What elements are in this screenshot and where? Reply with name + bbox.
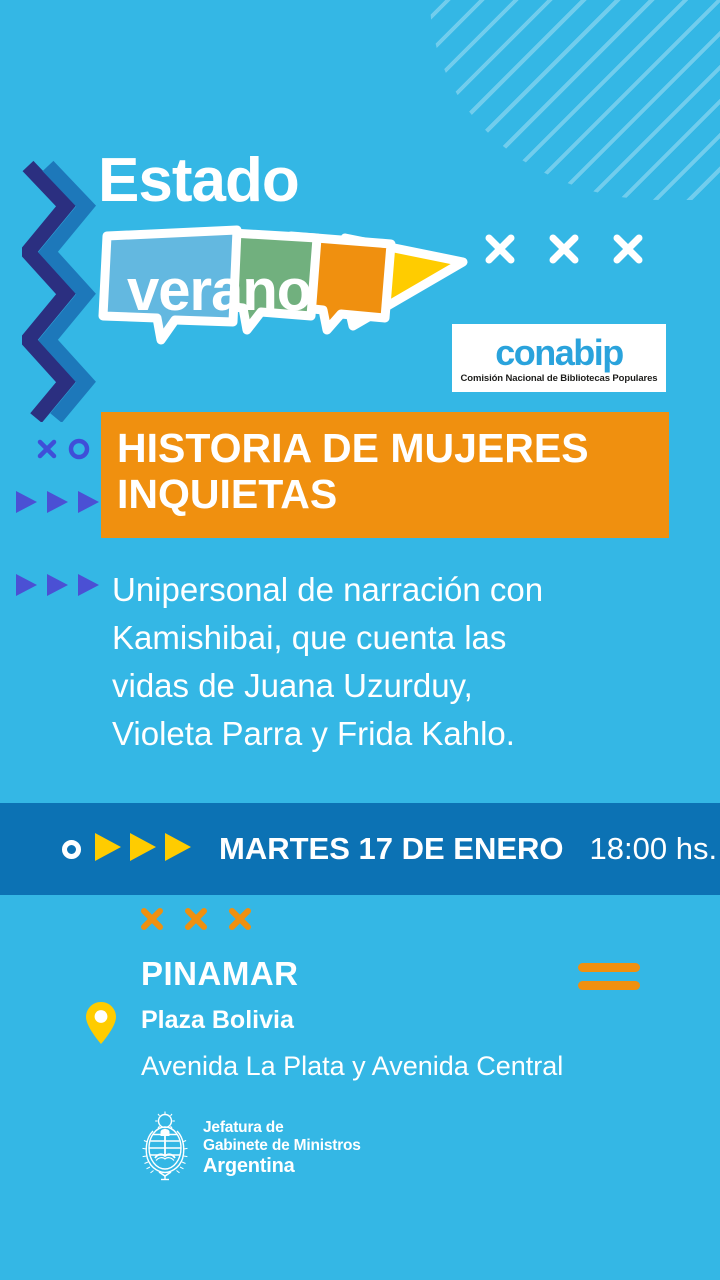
event-date-text: MARTES 17 DE ENERO	[219, 831, 564, 867]
play-triangle-icon	[93, 831, 123, 868]
description-line-1: Unipersonal de narración con	[112, 566, 632, 614]
play-triangle-icon	[14, 489, 39, 520]
description-line-3: vidas de Juana Uzurduy,	[112, 662, 632, 710]
orange-bar	[578, 981, 640, 990]
x-o-marker-decoration	[36, 437, 91, 466]
event-title-line2: INQUIETAS	[117, 471, 337, 517]
poster-canvas: Estado verano	[0, 0, 720, 1280]
estado-verano-logo: Estado verano	[95, 150, 475, 360]
argentina-government-logo: Jefatura de Gabinete de Ministros Argent…	[139, 1110, 361, 1187]
location-city: PINAMAR	[141, 955, 299, 993]
event-date-band: MARTES 17 DE ENERO 18:00 hs.	[0, 803, 720, 895]
close-icon	[483, 232, 517, 271]
government-line-1: Jefatura de	[203, 1119, 361, 1136]
equals-bars-decoration	[578, 963, 640, 999]
event-title-band: HISTORIA DE MUJERES INQUIETAS	[101, 412, 669, 538]
event-title-line1: HISTORIA DE MUJERES	[117, 425, 589, 471]
close-icon	[547, 232, 581, 271]
description-line-4: Violeta Parra y Frida Kahlo.	[112, 710, 632, 758]
x-marks-white-decoration	[483, 232, 645, 271]
play-triangle-icon	[45, 572, 70, 603]
close-icon	[36, 438, 58, 465]
government-logo-text: Jefatura de Gabinete de Ministros Argent…	[203, 1119, 361, 1177]
government-line-3: Argentina	[203, 1155, 361, 1177]
close-icon	[611, 232, 645, 271]
close-icon	[183, 906, 209, 937]
government-line-2: Gabinete de Ministros	[203, 1137, 361, 1154]
location-address: Avenida La Plata y Avenida Central	[141, 1051, 563, 1082]
triangles-violet-decoration-2	[14, 572, 101, 603]
x-marks-orange-decoration	[139, 906, 253, 937]
orange-bar	[578, 963, 640, 972]
location-place: Plaza Bolivia	[141, 1006, 294, 1035]
triangles-violet-decoration	[14, 489, 101, 520]
close-icon	[139, 906, 165, 937]
circle-outline-icon	[62, 840, 81, 859]
conabip-wordmark: conabip	[495, 335, 623, 371]
map-pin-icon	[85, 1001, 117, 1050]
zigzag-decoration	[22, 160, 100, 422]
play-triangle-icon	[163, 831, 193, 868]
play-triangle-icon	[14, 572, 39, 603]
close-icon	[227, 906, 253, 937]
logo-verano-text: verano	[127, 262, 311, 320]
circle-icon	[67, 437, 91, 466]
play-triangle-icon	[128, 831, 158, 868]
conabip-subtitle: Comisión Nacional de Bibliotecas Popular…	[461, 373, 658, 384]
event-description: Unipersonal de narración con Kamishibai,…	[112, 566, 632, 757]
play-triangle-icon	[76, 572, 101, 603]
conabip-logo: conabip Comisión Nacional de Bibliotecas…	[452, 324, 666, 392]
description-line-2: Kamishibai, que cuenta las	[112, 614, 632, 662]
event-time-text: 18:00 hs.	[590, 831, 718, 867]
triangles-yellow-decoration	[93, 831, 193, 868]
argentina-coat-of-arms-icon	[139, 1110, 191, 1187]
play-triangle-icon	[76, 489, 101, 520]
logo-estado-text: Estado	[98, 150, 299, 212]
play-triangle-icon	[45, 489, 70, 520]
